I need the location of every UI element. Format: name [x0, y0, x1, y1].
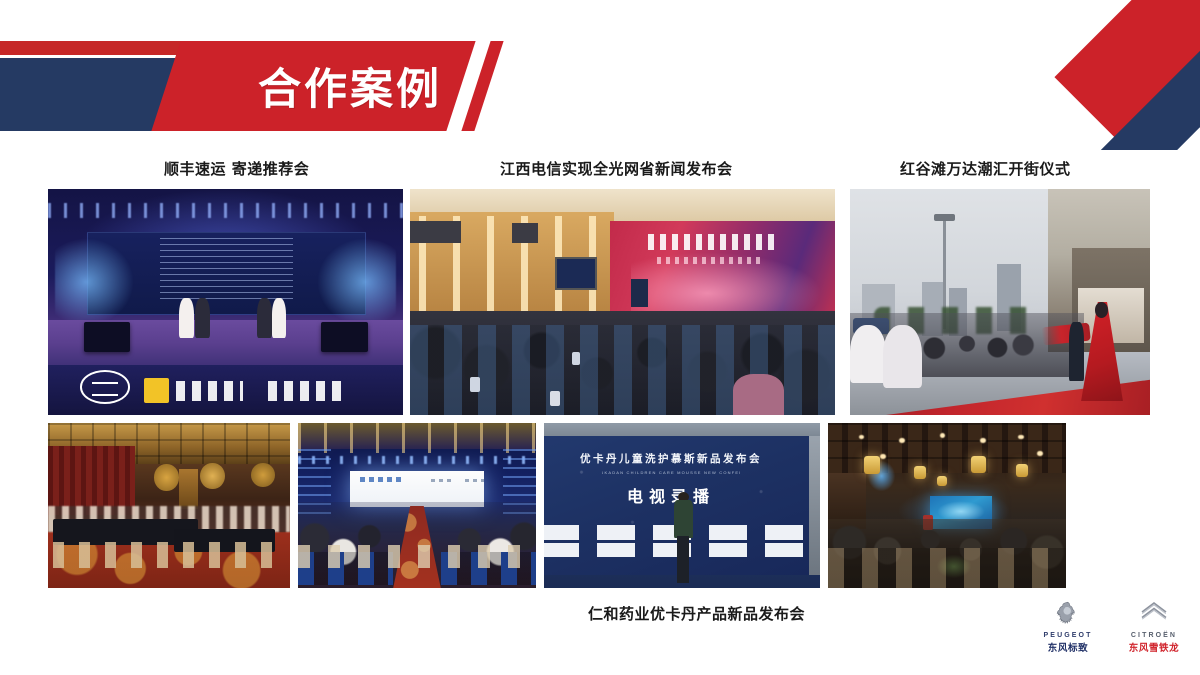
wall-edge: [809, 436, 820, 575]
caption-yukadan: 仁和药业优卡丹产品新品发布会: [588, 603, 805, 624]
downlight: [899, 438, 904, 443]
led-screen-subline: [657, 257, 763, 264]
hanging-lantern: [971, 456, 986, 473]
screen-text-line: [465, 479, 484, 482]
header-banner: 合作案例: [0, 0, 560, 150]
event-staff: [1069, 322, 1084, 381]
stage-logo-left: [55, 239, 133, 325]
sf-logo-icon: [80, 370, 130, 403]
hanging-lantern: [864, 456, 881, 474]
person-torso: [674, 500, 693, 538]
banquet-hall-photo: [48, 423, 290, 588]
honggutan-wanda-street-opening-photo: [850, 189, 1150, 415]
stage-truss-lights: [298, 456, 536, 464]
stage-floor-word-gold: [144, 378, 169, 403]
stage-truss-lights: [48, 203, 403, 219]
stage-floor-word: [268, 381, 346, 401]
caption-jiangxi-telecom: 江西电信实现全光网省新闻发布会: [500, 158, 733, 179]
hanging-lantern: [914, 466, 926, 479]
screen-heading-text: [360, 477, 403, 482]
downlight: [1018, 435, 1023, 440]
peugeot-lion-icon: [1053, 600, 1083, 630]
banquet-chairs: [828, 548, 1066, 588]
host-head: [1095, 302, 1109, 318]
downlight: [940, 433, 945, 438]
hanging-lantern: [1016, 464, 1028, 477]
light-pole-head: [934, 214, 955, 221]
corner-decoration: [1050, 0, 1200, 150]
stage-logo-right: [318, 239, 396, 325]
page-title: 合作案例: [205, 52, 495, 120]
foreground-person: [883, 325, 922, 388]
audience-phone: [550, 391, 559, 406]
downlight: [1037, 451, 1042, 456]
stage-performer: [257, 298, 271, 339]
wall-panel: [410, 221, 461, 244]
screen-text-lines: [160, 238, 293, 303]
citroen-logo: CITROËN 东风雪铁龙: [1114, 600, 1194, 654]
hall-doorway: [179, 469, 198, 509]
downlight: [880, 454, 885, 459]
audience-phone: [572, 352, 581, 366]
jiangxi-telecom-auditorium-photo: [410, 189, 835, 415]
stage-speaker-right: [321, 322, 367, 351]
sf-express-stage-photo: [48, 189, 403, 415]
brand-logos: PEUGEOT 东风标致 CITROËN 东风雪铁龙: [1028, 592, 1196, 654]
citroen-wordmark-cn: 东风雪铁龙: [1129, 640, 1180, 654]
peugeot-logo: PEUGEOT 东风标致: [1028, 600, 1108, 654]
citroen-chevrons-icon: [1137, 600, 1171, 630]
side-monitor: [555, 257, 597, 290]
stage-performer: [195, 298, 209, 339]
citroen-wordmark-en: CITROËN: [1131, 632, 1177, 639]
banquet-chairs: [298, 545, 536, 568]
banquet-chairs: [53, 542, 285, 568]
audience-phone: [470, 377, 480, 393]
wall-medallion: [154, 464, 178, 490]
person-legs: [677, 536, 689, 583]
backdrop-subtitle-text: THE YUKADAN CHILDREN CARE MOUSSE NEW CON…: [602, 469, 740, 476]
wall-medallion: [200, 463, 224, 489]
peugeot-wordmark-en: PEUGEOT: [1044, 632, 1093, 639]
wall-panel: [512, 223, 538, 243]
header-red-strip-shape: [0, 41, 197, 55]
stage-performer: [179, 298, 193, 339]
audience-member: [733, 374, 784, 415]
caption-honggutan-wanda: 红谷滩万达潮汇开街仪式: [900, 158, 1071, 179]
caption-sf-express: 顺丰速运 寄递推荐会: [164, 158, 309, 179]
yukadan-backdrop-photo: 优卡丹儿童洗护慕斯新品发布会 THE YUKADAN CHILDREN CARE…: [544, 423, 820, 588]
hanging-lantern: [937, 476, 947, 486]
backdrop-title-text: 优卡丹儿童洗护慕斯新品发布会: [580, 451, 762, 466]
blue-conference-hall-photo: [298, 423, 536, 588]
peugeot-wordmark-cn: 东风标致: [1048, 640, 1088, 654]
slide-root: 合作案例 顺丰速运 寄递推荐会 江西电信实现全光网省新闻发布会 红谷滩万达潮汇开…: [0, 0, 1200, 675]
ceiling-beams: [298, 423, 536, 453]
wood-hall-lanterns-photo: [828, 423, 1066, 588]
backdrop-headline-text: 电视录播: [619, 484, 724, 505]
speaker-podium: [631, 279, 648, 306]
led-screen-headline: [648, 234, 776, 250]
stage-speaker-left: [84, 322, 130, 351]
person-in-front: [674, 492, 693, 583]
stage-performer: [272, 298, 286, 339]
screen-text-line: [431, 479, 452, 482]
foreground-person: [850, 325, 886, 384]
downlight: [980, 438, 985, 443]
stage-floor-word: [176, 381, 243, 401]
